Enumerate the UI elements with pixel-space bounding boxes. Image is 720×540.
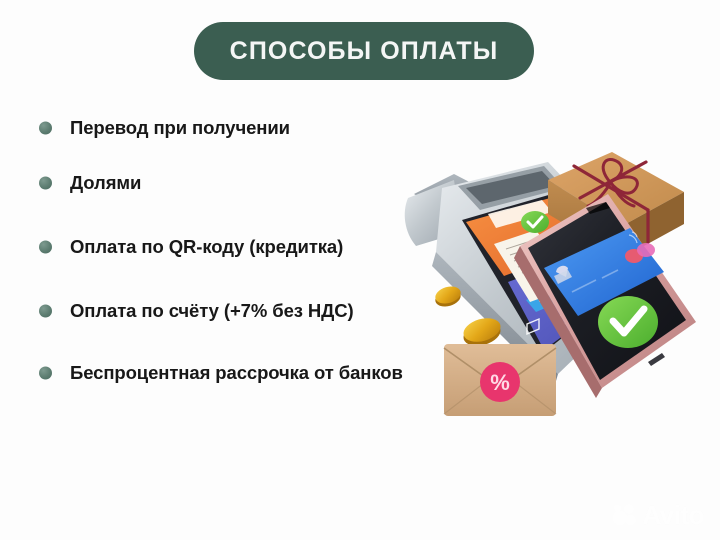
svg-text:%: % xyxy=(490,370,510,395)
bullet-dot-icon xyxy=(39,177,52,190)
bullet-dot-icon xyxy=(39,305,52,318)
list-item: Беспроцентная рассрочка от банков xyxy=(36,342,426,404)
list-item-label: Беспроцентная рассрочка от банков xyxy=(70,360,403,386)
list-item: Перевод при получении xyxy=(36,104,426,152)
page-title: СПОСОБЫ ОПЛАТЫ xyxy=(230,39,499,64)
list-item-label: Оплата по счёту (+7% без НДС) xyxy=(70,298,354,324)
title-banner: СПОСОБЫ ОПЛАТЫ xyxy=(194,22,534,80)
green-check-badge xyxy=(521,211,549,233)
payment-methods-list: Перевод при получении Долями Оплата по Q… xyxy=(36,104,426,404)
bullet-dot-icon xyxy=(39,367,52,380)
bullet-dot-icon xyxy=(39,122,52,135)
bullet-dot-icon xyxy=(39,241,52,254)
avito-logo-icon xyxy=(612,503,638,527)
avito-watermark: Avito xyxy=(612,502,704,528)
green-check-badge xyxy=(598,296,658,348)
percent-seal: % xyxy=(480,362,520,402)
list-item-label: Перевод при получении xyxy=(70,115,290,141)
list-item: Долями xyxy=(36,152,426,214)
list-item: Оплата по счёту (+7% без НДС) xyxy=(36,280,426,342)
envelope: % xyxy=(444,344,556,416)
payment-terminal-illustration: PRINT xyxy=(396,136,706,426)
list-item-label: Долями xyxy=(70,170,141,196)
list-item-label: Оплата по QR-коду (кредитка) xyxy=(70,234,343,260)
slide-root: СПОСОБЫ ОПЛАТЫ Перевод при получении Дол… xyxy=(0,0,720,540)
avito-watermark-label: Avito xyxy=(642,502,704,528)
list-item: Оплата по QR-коду (кредитка) xyxy=(36,214,426,280)
